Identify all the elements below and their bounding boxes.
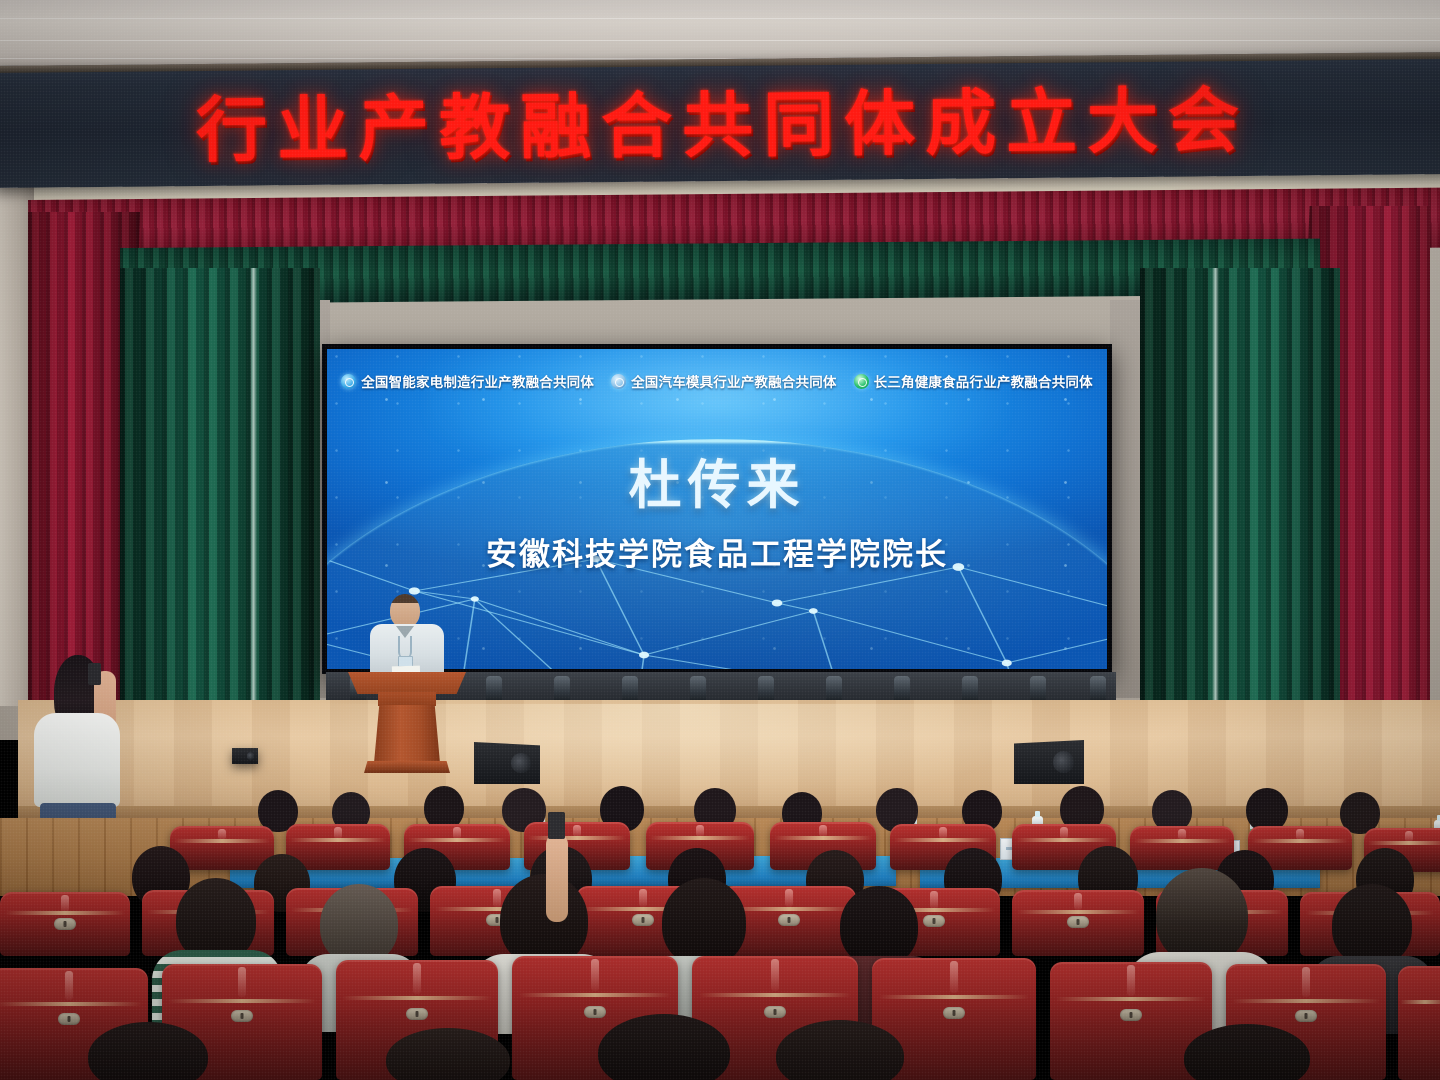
audience-area	[0, 0, 1440, 1080]
seat	[1130, 826, 1234, 870]
raised-forearm	[546, 834, 568, 922]
audience-head	[1332, 884, 1412, 966]
audience-head	[1156, 868, 1248, 964]
seat	[1398, 966, 1440, 1080]
audience-head	[840, 886, 918, 966]
seat	[1012, 890, 1144, 956]
auditorium-photo: 行业产教融合共同体成立大会	[0, 0, 1440, 1080]
seat	[0, 892, 130, 956]
phone-icon	[548, 812, 565, 839]
audience-raised-phone	[540, 812, 574, 922]
audience-head	[662, 878, 746, 966]
audience-head	[320, 884, 398, 964]
